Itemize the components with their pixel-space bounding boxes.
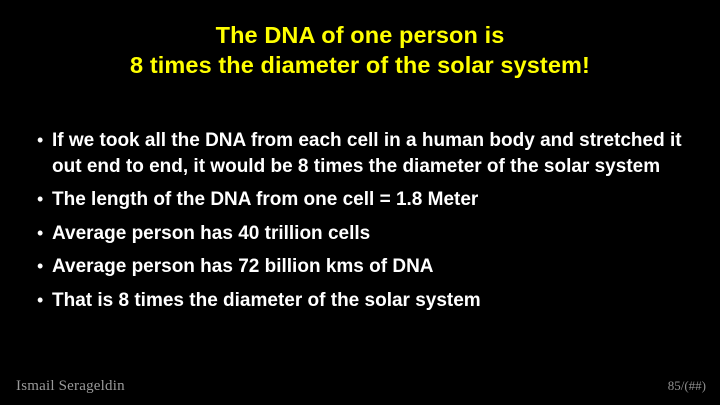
bullet-text: Average person has 40 trillion cells xyxy=(52,221,694,247)
list-item: • Average person has 72 billion kms of D… xyxy=(34,254,694,280)
bullet-icon: • xyxy=(34,221,52,246)
title-line-1: The DNA of one person is xyxy=(0,20,720,50)
bullet-text: That is 8 times the diameter of the sola… xyxy=(52,288,694,314)
bullet-icon: • xyxy=(34,187,52,212)
bullet-list: • If we took all the DNA from each cell … xyxy=(34,128,694,321)
list-item: • If we took all the DNA from each cell … xyxy=(34,128,694,179)
bullet-text: Average person has 72 billion kms of DNA xyxy=(52,254,694,280)
list-item: • Average person has 40 trillion cells xyxy=(34,221,694,247)
bullet-icon: • xyxy=(34,254,52,279)
bullet-icon: • xyxy=(34,128,52,153)
bullet-icon: • xyxy=(34,288,52,313)
footer-author: Ismail Serageldin xyxy=(16,378,125,395)
title-line-2: 8 times the diameter of the solar system… xyxy=(0,50,720,80)
slide-title: The DNA of one person is 8 times the dia… xyxy=(0,20,720,80)
list-item: • The length of the DNA from one cell = … xyxy=(34,187,694,213)
footer-page-number: 85/(##) xyxy=(668,378,706,394)
bullet-text: If we took all the DNA from each cell in… xyxy=(52,128,694,179)
bullet-text: The length of the DNA from one cell = 1.… xyxy=(52,187,694,213)
slide-canvas: The DNA of one person is 8 times the dia… xyxy=(0,0,720,405)
list-item: • That is 8 times the diameter of the so… xyxy=(34,288,694,314)
